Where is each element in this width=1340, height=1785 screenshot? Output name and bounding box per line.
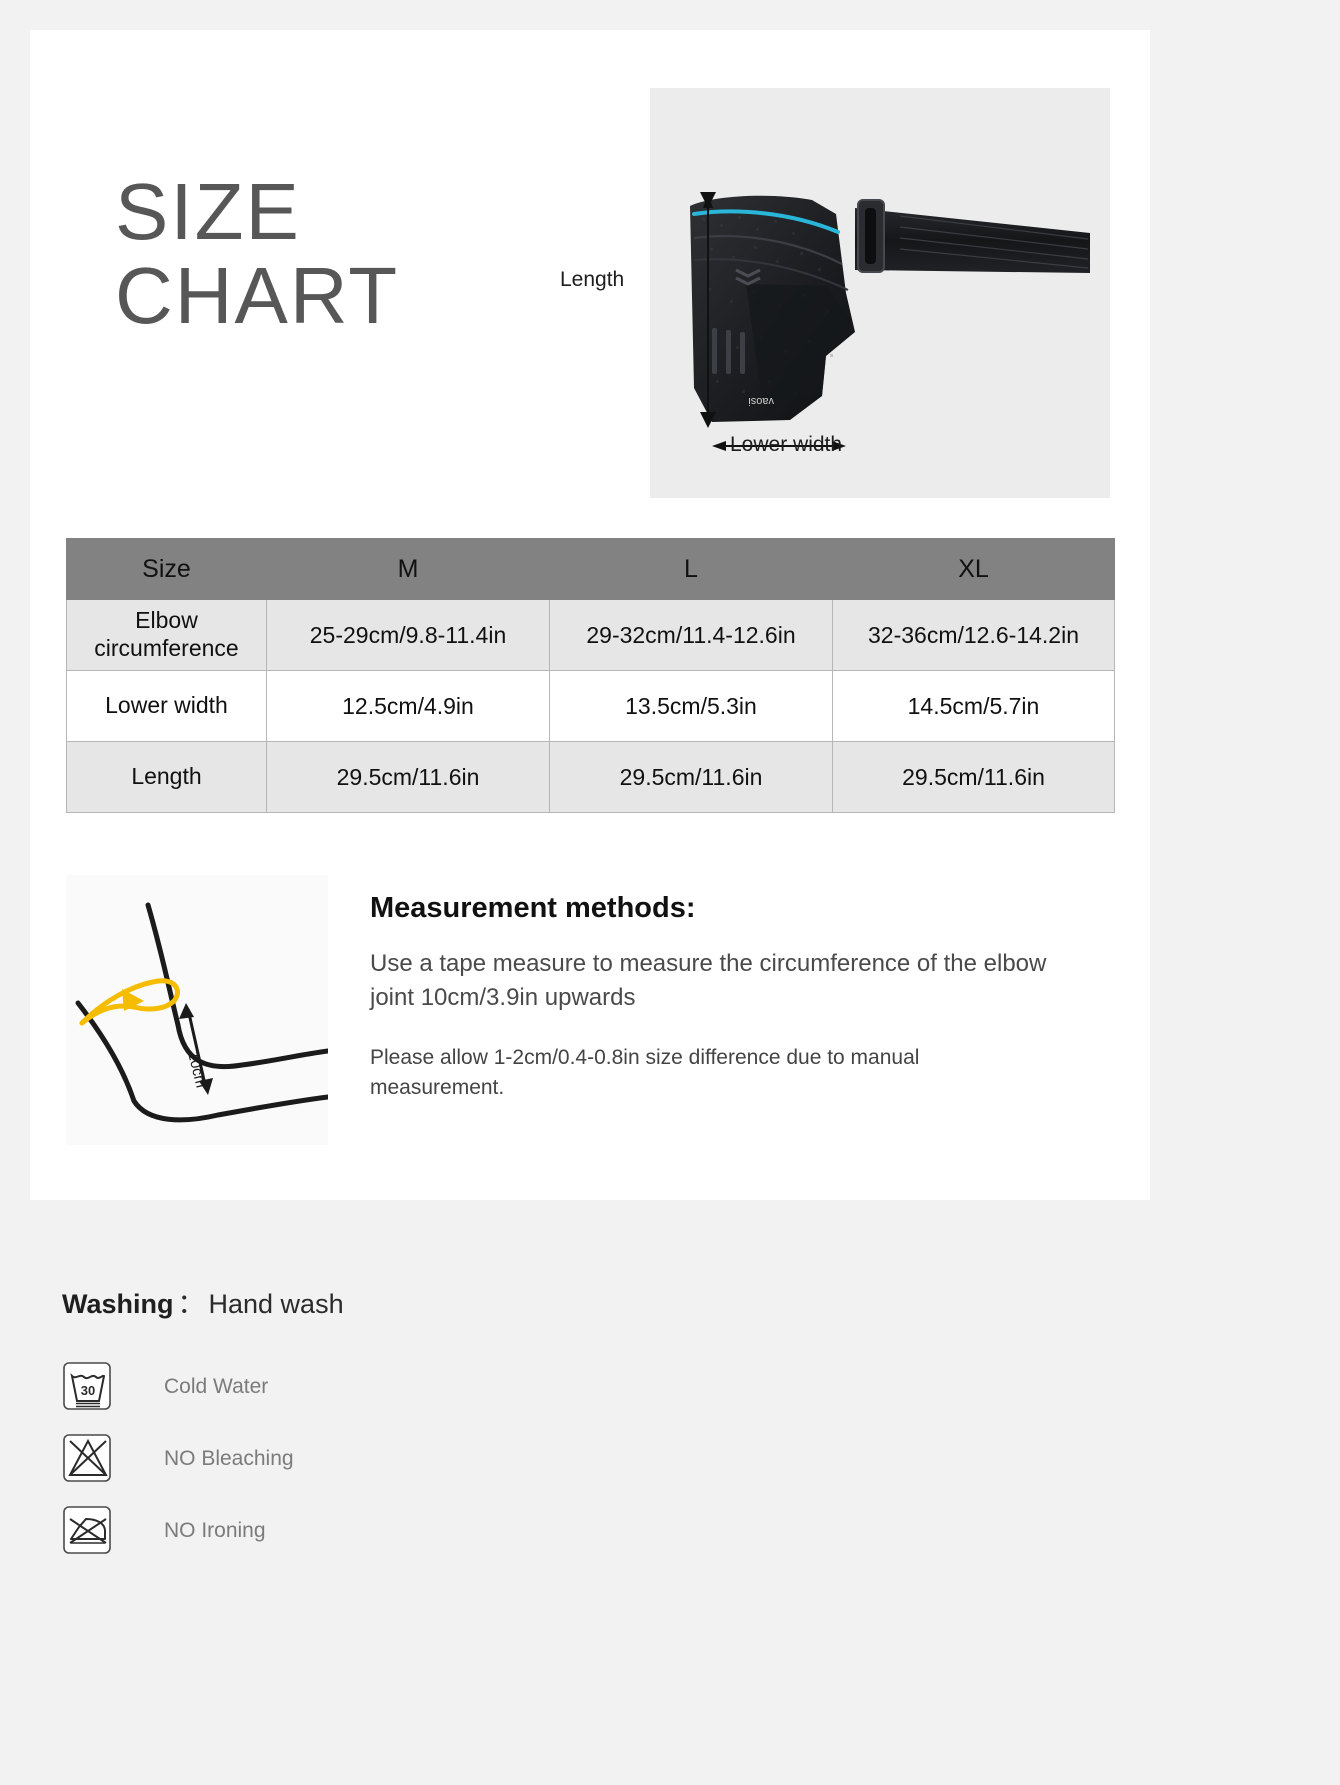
page-title-line1: SIZE	[115, 167, 301, 256]
washing-instructions: Washing：Hand wash 30 Cold Water NO Bleac…	[62, 1282, 662, 1567]
size-chart-panel: SIZE CHART	[30, 30, 1150, 1200]
cell-lower-width-xl: 14.5cm/5.7in	[833, 671, 1115, 742]
row-label-length: Length	[67, 742, 267, 813]
cell-length-xl: 29.5cm/11.6in	[833, 742, 1115, 813]
table-header-xl: XL	[833, 539, 1115, 600]
cell-length-l: 29.5cm/11.6in	[550, 742, 833, 813]
row-label-lower-width: Lower width	[67, 671, 267, 742]
brand-mark: vaosi	[748, 395, 774, 407]
care-label-no-ironing: NO Ironing	[164, 1519, 266, 1543]
cell-elbow-xl: 32-36cm/12.6-14.2in	[833, 600, 1115, 671]
row-label-line1: Elbow	[135, 607, 198, 633]
measurement-methods-title: Measurement methods:	[370, 892, 1050, 925]
care-item-no-bleaching: NO Bleaching	[62, 1423, 662, 1495]
row-label-elbow-circumference: Elbow circumference	[67, 600, 267, 671]
table-row: Length 29.5cm/11.6in 29.5cm/11.6in 29.5c…	[67, 742, 1115, 813]
washing-heading-label: Washing	[62, 1289, 174, 1319]
page-title: SIZE CHART	[115, 170, 585, 338]
lower-width-dimension-label: Lower width	[730, 433, 842, 457]
table-header-size: Size	[67, 539, 267, 600]
cell-lower-width-l: 13.5cm/5.3in	[550, 671, 833, 742]
no-bleach-icon	[62, 1433, 114, 1485]
washing-heading: Washing：Hand wash	[62, 1282, 662, 1321]
size-table-container: Size M L XL Elbow circumference 25-29cm/…	[66, 538, 1114, 813]
length-dimension-label: Length	[560, 268, 624, 292]
care-label-no-bleaching: NO Bleaching	[164, 1447, 294, 1471]
table-header-l: L	[550, 539, 833, 600]
table-row: Elbow circumference 25-29cm/9.8-11.4in 2…	[67, 600, 1115, 671]
table-row: Lower width 12.5cm/4.9in 13.5cm/5.3in 14…	[67, 671, 1115, 742]
cell-elbow-l: 29-32cm/11.4-12.6in	[550, 600, 833, 671]
cell-length-m: 29.5cm/11.6in	[267, 742, 550, 813]
row-label-line2: circumference	[94, 635, 238, 661]
wash-tub-30-icon: 30	[62, 1361, 114, 1413]
measurement-methods-section: Measurement methods: Use a tape measure …	[370, 892, 1050, 1103]
table-header-m: M	[267, 539, 550, 600]
washing-heading-value: Hand wash	[209, 1289, 344, 1319]
measurement-methods-body: Use a tape measure to measure the circum…	[370, 947, 1050, 1015]
washing-heading-separator: ：	[174, 1289, 209, 1319]
size-table: Size M L XL Elbow circumference 25-29cm/…	[66, 538, 1115, 813]
product-illustration: vaosi	[650, 88, 1110, 498]
cell-elbow-m: 25-29cm/9.8-11.4in	[267, 600, 550, 671]
product-photo: vaosi Length Lower width	[650, 88, 1110, 498]
wash-temperature-value: 30	[81, 1383, 95, 1398]
measurement-tolerance-note: Please allow 1-2cm/0.4-0.8in size differ…	[370, 1043, 1050, 1103]
care-label-cold-water: Cold Water	[164, 1375, 268, 1399]
no-iron-icon	[62, 1505, 114, 1557]
elbow-measure-illustration: 10cm	[66, 875, 328, 1145]
page-title-line2: CHART	[115, 254, 585, 338]
cell-lower-width-m: 12.5cm/4.9in	[267, 671, 550, 742]
care-item-cold-water: 30 Cold Water	[62, 1351, 662, 1423]
measurement-diagram: 10cm	[66, 875, 328, 1145]
table-header-row: Size M L XL	[67, 539, 1115, 600]
care-item-no-ironing: NO Ironing	[62, 1495, 662, 1567]
